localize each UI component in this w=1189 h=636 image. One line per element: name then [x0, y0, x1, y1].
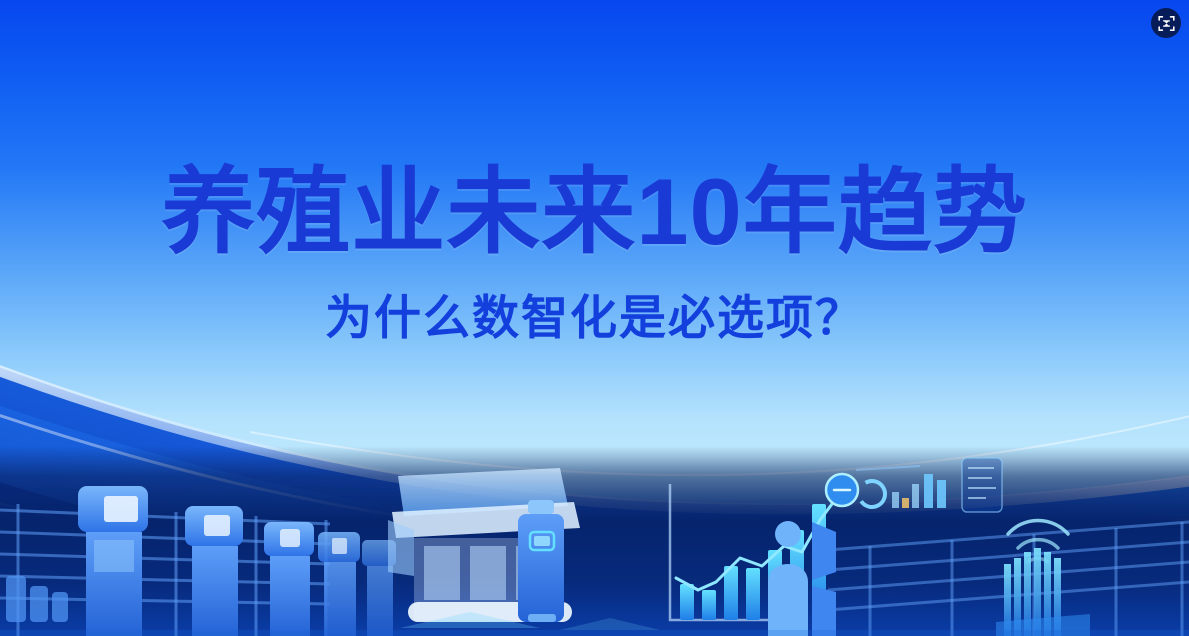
scan-fullscreen-icon [1158, 15, 1175, 32]
donut-gauge [854, 476, 890, 512]
farm-scene-illustration [0, 446, 1189, 636]
silo-with-wifi [996, 520, 1090, 636]
scan-fullscreen-button[interactable] [1151, 8, 1181, 38]
storage-tank [518, 500, 564, 622]
dashboard-widgets [854, 458, 1002, 512]
poster-frame: 养殖业未来10年趋势 为什么数智化是必选项？ [0, 0, 1189, 636]
mini-bars [892, 474, 946, 508]
server-cabinets [78, 486, 396, 636]
list-panel [962, 458, 1002, 512]
small-canisters [6, 576, 68, 622]
